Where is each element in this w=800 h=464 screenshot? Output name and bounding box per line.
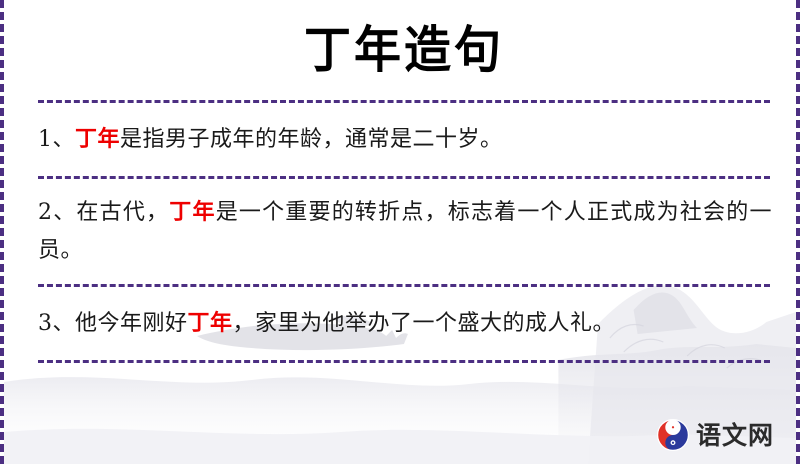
page-title: 丁年造句 xyxy=(304,25,504,75)
site-watermark: 语文网 xyxy=(656,418,774,452)
sentence-1-index: 1、 xyxy=(38,127,75,152)
example-sentence-1: 1、丁年是指男子成年的年龄，通常是二十岁。 xyxy=(22,103,786,176)
sentence-3-keyword: 丁年 xyxy=(188,310,233,336)
sentence-2-index: 2、 xyxy=(38,200,76,225)
sentence-1-keyword: 丁年 xyxy=(75,126,120,152)
document-page: 丁年造句 1、丁年是指男子成年的年龄，通常是二十岁。 2、在古代，丁年是一个重要… xyxy=(0,0,800,464)
sentence-3-text-after: ，家里为他举办了一个盛大的成人礼。 xyxy=(233,311,616,336)
sentence-2-text-before: 在古代， xyxy=(76,200,169,225)
divider-bottom xyxy=(38,360,770,363)
example-sentence-3: 3、他今年刚好丁年，家里为他举办了一个盛大的成人礼。 xyxy=(22,287,786,360)
sentence-3-index: 3、 xyxy=(38,311,75,336)
document-content: 丁年造句 1、丁年是指男子成年的年龄，通常是二十岁。 2、在古代，丁年是一个重要… xyxy=(4,0,800,464)
sentence-3-text-before: 他今年刚好 xyxy=(75,311,188,336)
sentence-2-keyword: 丁年 xyxy=(169,199,215,225)
sentence-1-text: 是指男子成年的年龄，通常是二十岁。 xyxy=(120,127,503,152)
site-name-label: 语文网 xyxy=(696,423,774,448)
taiji-circle-icon xyxy=(656,418,690,452)
example-sentence-2: 2、在古代，丁年是一个重要的转折点，标志着一个人正式成为社会的一员。 xyxy=(22,179,786,284)
title-block: 丁年造句 xyxy=(22,0,786,100)
